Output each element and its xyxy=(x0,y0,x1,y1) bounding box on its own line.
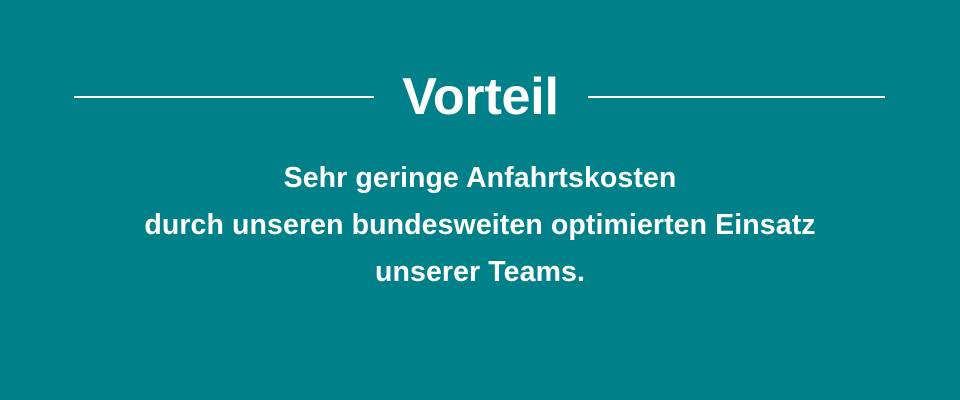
body-line-2: durch unseren bundesweiten optimierten E… xyxy=(0,202,960,249)
body-line-1: Sehr geringe Anfahrtskosten xyxy=(0,155,960,202)
page-title: Vorteil xyxy=(400,64,562,130)
vorteil-banner: Vorteil Sehr geringe Anfahrtskosten durc… xyxy=(0,0,960,400)
divider-line-right xyxy=(588,96,885,98)
body-line-3: unserer Teams. xyxy=(0,249,960,296)
divider-line-left xyxy=(74,96,374,98)
body-copy: Sehr geringe Anfahrtskosten durch unsere… xyxy=(0,155,960,296)
heading-row: Vorteil xyxy=(0,64,960,130)
